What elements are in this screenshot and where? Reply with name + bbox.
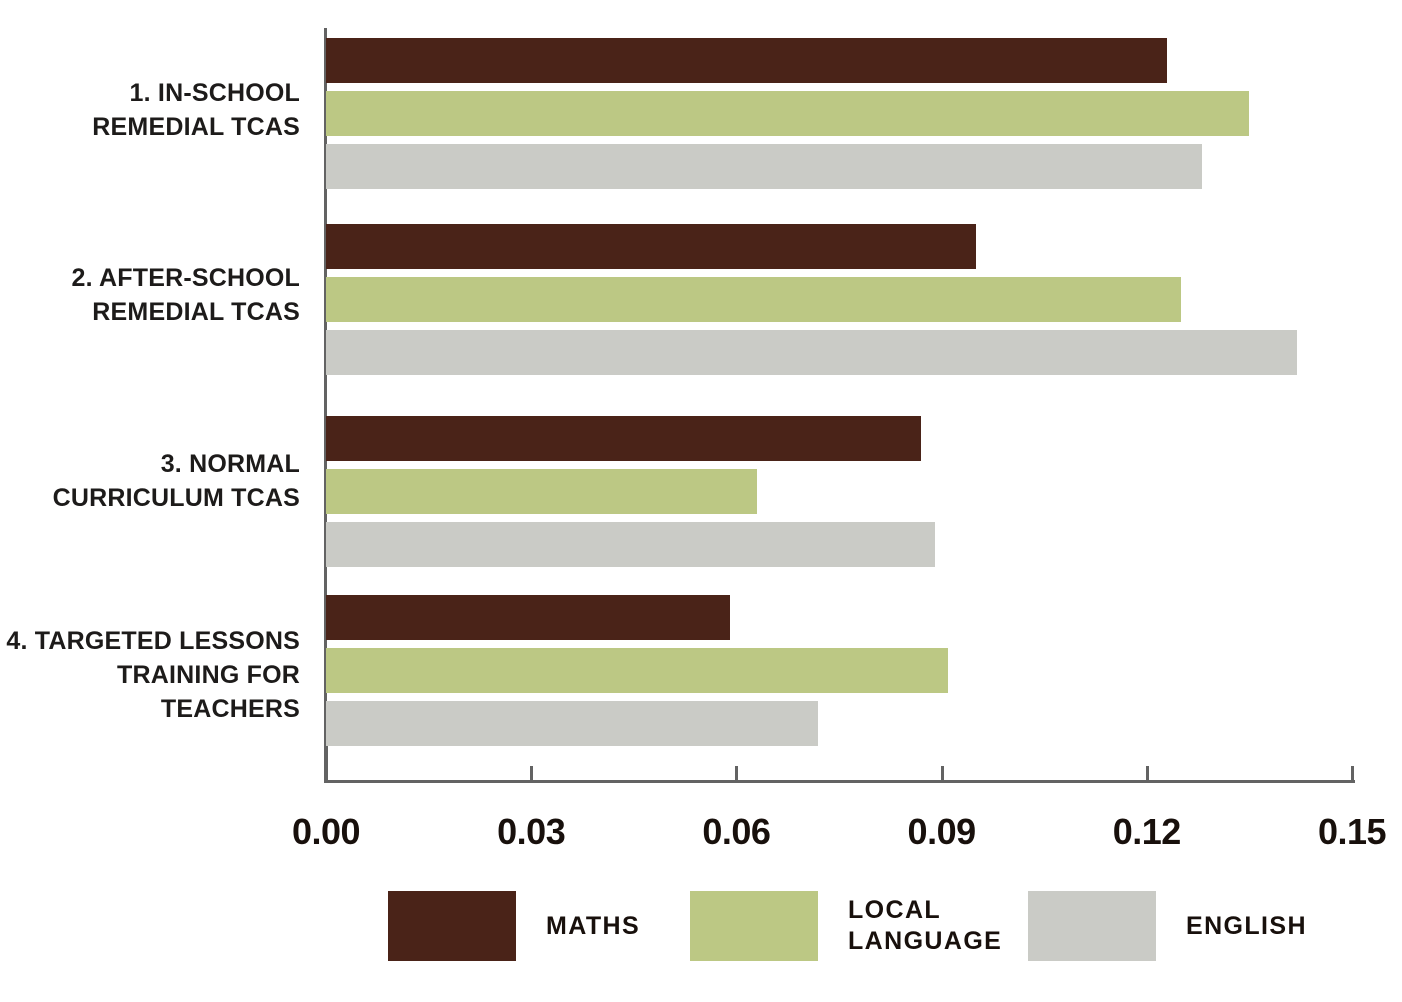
legend-label-local-language: LOCAL LANGUAGE [848, 895, 1002, 957]
x-tick-label: 0.09 [908, 811, 976, 853]
category-axis-labels: 1. IN-SCHOOL REMEDIAL TCAS 2. AFTER-SCHO… [0, 0, 300, 790]
x-tick-label: 0.00 [292, 811, 360, 853]
bar-english-group-3 [326, 522, 935, 567]
bar-local-group-3 [326, 469, 757, 514]
bar-local-group-2 [326, 277, 1181, 322]
bar-english-group-2 [326, 330, 1297, 375]
x-tick-mark [1351, 766, 1354, 783]
bar-english-group-4 [326, 701, 818, 746]
bar-local-group-1 [326, 91, 1249, 136]
plot-area: 0.000.030.060.090.120.15 [326, 28, 1352, 780]
legend-swatch-maths-icon [388, 891, 516, 961]
x-tick-mark [1146, 766, 1149, 783]
legend-swatch-local-language-icon [690, 891, 818, 961]
x-tick-label: 0.12 [1113, 811, 1181, 853]
bar-maths-group-2 [326, 224, 976, 269]
legend-item-english: ENGLISH [1028, 878, 1307, 974]
category-label-2: 2. AFTER-SCHOOL REMEDIAL TCAS [0, 261, 300, 329]
bar-maths-group-1 [326, 38, 1167, 83]
grouped-bar-chart: 1. IN-SCHOOL REMEDIAL TCAS 2. AFTER-SCHO… [0, 0, 1402, 1002]
x-tick-mark [941, 766, 944, 783]
x-axis-line [324, 780, 1355, 783]
x-tick-label: 0.15 [1318, 811, 1386, 853]
x-tick-mark [735, 766, 738, 783]
x-tick-label: 0.06 [702, 811, 770, 853]
legend-label-english: ENGLISH [1186, 911, 1307, 942]
x-tick-label: 0.03 [497, 811, 565, 853]
x-tick-mark [530, 766, 533, 783]
legend-item-local-language: LOCAL LANGUAGE [690, 878, 1002, 974]
bar-local-group-4 [326, 648, 948, 693]
legend-label-maths: MATHS [546, 911, 640, 942]
bar-maths-group-4 [326, 595, 730, 640]
category-label-3: 3. NORMAL CURRICULUM TCAS [0, 447, 300, 515]
category-label-4: 4. TARGETED LESSONS TRAINING FOR TEACHER… [0, 624, 300, 726]
chart-legend: MATHS LOCAL LANGUAGE ENGLISH [0, 878, 1402, 974]
bar-english-group-1 [326, 144, 1202, 189]
bar-maths-group-3 [326, 416, 921, 461]
legend-item-maths: MATHS [388, 878, 640, 974]
category-label-1: 1. IN-SCHOOL REMEDIAL TCAS [0, 76, 300, 144]
legend-swatch-english-icon [1028, 891, 1156, 961]
